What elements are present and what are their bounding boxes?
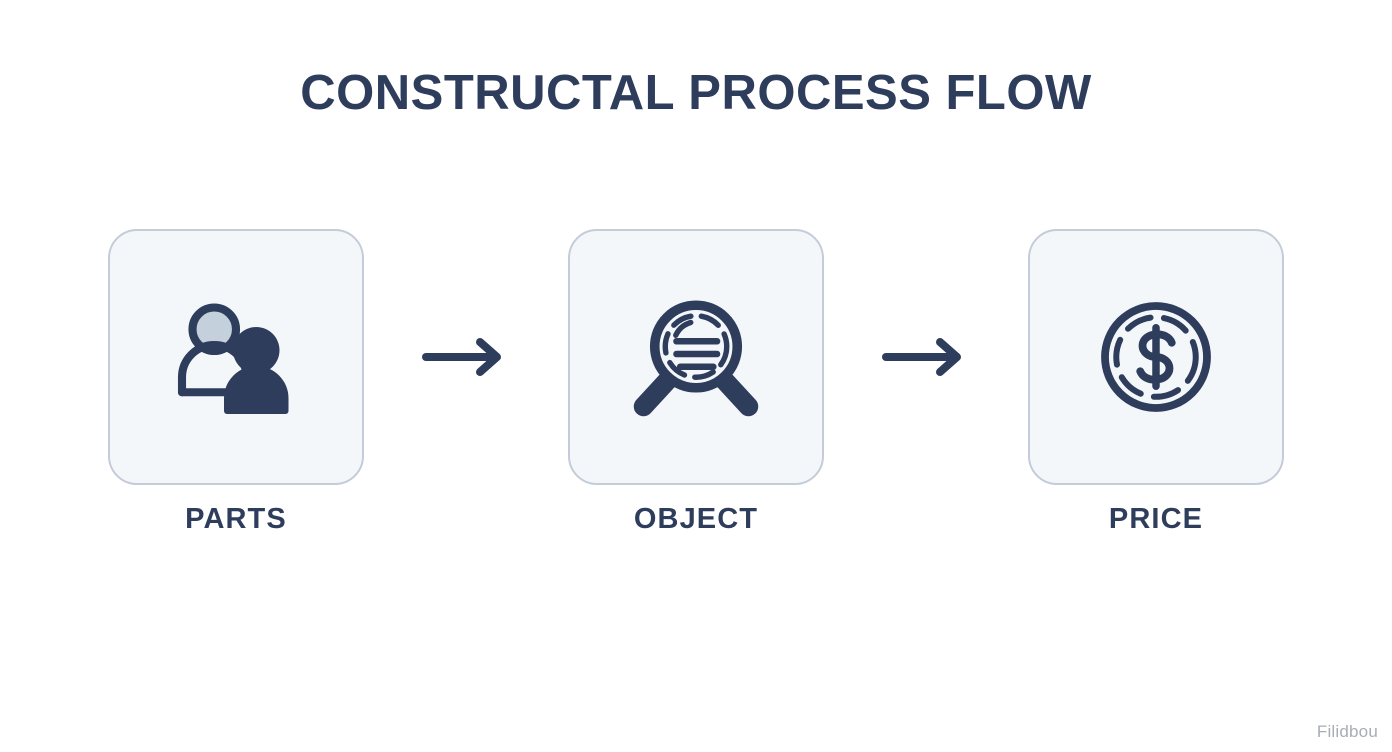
arrow-right-icon bbox=[420, 335, 512, 379]
connector-2 bbox=[824, 229, 1028, 485]
flow-step-object: OBJECT bbox=[568, 229, 824, 485]
arrow-right-icon bbox=[880, 335, 972, 379]
page-title: CONSTRUCTAL PROCESS FLOW bbox=[0, 64, 1392, 123]
icon-card-price bbox=[1028, 229, 1284, 485]
people-group-icon bbox=[161, 282, 311, 432]
flow-step-parts: PARTS bbox=[108, 229, 364, 485]
dollar-coin-icon bbox=[1081, 282, 1231, 432]
connector-1 bbox=[364, 229, 568, 485]
magnifier-document-icon bbox=[621, 282, 771, 432]
step-label-object: OBJECT bbox=[528, 503, 864, 536]
icon-card-parts bbox=[108, 229, 364, 485]
step-label-parts: PARTS bbox=[68, 503, 404, 536]
step-label-price: PRICE bbox=[988, 503, 1324, 536]
icon-card-object bbox=[568, 229, 824, 485]
process-flow-row: PARTS bbox=[0, 229, 1392, 485]
flow-step-price: PRICE bbox=[1028, 229, 1284, 485]
watermark: Filidbou bbox=[1317, 722, 1378, 742]
